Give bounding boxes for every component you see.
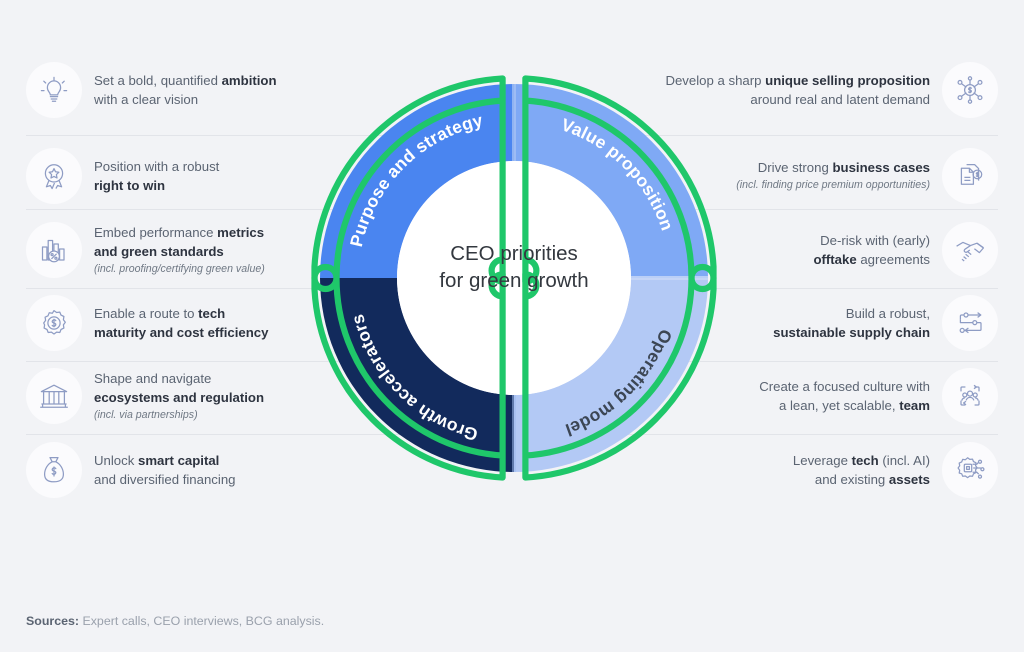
list-item-text: Set a bold, quantified ambition with a c… (94, 71, 277, 109)
list-item-left-4[interactable]: Enable a route to tech maturity and cost… (26, 295, 316, 351)
list-item-right-4[interactable]: Build a robust, sustainable supply chain (688, 295, 998, 351)
list-item-left-3[interactable]: Embed performance metrics and green stan… (26, 222, 316, 278)
list-item-left-1[interactable]: Set a bold, quantified ambition with a c… (26, 62, 316, 118)
sources-text: Expert calls, CEO interviews, BCG analys… (79, 614, 324, 628)
list-item-text: Build a robust, sustainable supply chain (688, 304, 930, 342)
network-dollar-icon (942, 62, 998, 118)
list-item-text: Position with a robust right to win (94, 157, 219, 195)
chip-gear-icon (942, 442, 998, 498)
team-icon (942, 368, 998, 424)
gear-dollar-icon (26, 295, 82, 351)
donut-diagram: Purpose and strategy Value proposition O… (288, 52, 740, 504)
list-item-left-2[interactable]: Position with a robust right to win (26, 148, 316, 204)
handshake-icon (942, 222, 998, 278)
list-item-text: Develop a sharp unique selling propositi… (665, 71, 930, 109)
sources-label: Sources: (26, 614, 79, 628)
list-item-right-5[interactable]: Create a focused culture with a lean, ye… (688, 368, 998, 424)
bar-chart-percent-icon (26, 222, 82, 278)
institution-icon (26, 368, 82, 424)
list-item-right-3[interactable]: De-risk with (early) offtake agreements (688, 222, 998, 278)
list-item-right-6[interactable]: Leverage tech (incl. AI) and existing as… (688, 442, 998, 498)
list-item-right-1[interactable]: Develop a sharp unique selling propositi… (688, 62, 998, 118)
documents-dollar-icon (942, 148, 998, 204)
list-item-text: Unlock smart capital and diversified fin… (94, 451, 236, 489)
infographic-canvas: Purpose and strategy Value proposition O… (0, 0, 1024, 652)
list-item-left-5[interactable]: Shape and navigate ecosystems and regula… (26, 368, 316, 424)
award-ribbon-icon (26, 148, 82, 204)
supply-chain-icon (942, 295, 998, 351)
lightbulb-icon (26, 62, 82, 118)
donut-center-disc (397, 161, 631, 395)
list-item-text: De-risk with (early) offtake agreements (688, 231, 930, 269)
list-item-text: Enable a route to tech maturity and cost… (94, 304, 268, 342)
sources-footer: Sources: Expert calls, CEO interviews, B… (26, 614, 324, 628)
list-item-text: Leverage tech (incl. AI) and existing as… (688, 451, 930, 489)
list-item-text: Create a focused culture with a lean, ye… (688, 377, 930, 415)
list-item-text: Embed performance metrics and green stan… (94, 223, 265, 278)
list-item-text: Drive strong business cases (incl. findi… (688, 158, 930, 194)
list-item-right-2[interactable]: Drive strong business cases (incl. findi… (688, 148, 998, 204)
list-item-text: Shape and navigate ecosystems and regula… (94, 369, 264, 424)
money-bag-icon (26, 442, 82, 498)
list-item-left-6[interactable]: Unlock smart capital and diversified fin… (26, 442, 316, 498)
